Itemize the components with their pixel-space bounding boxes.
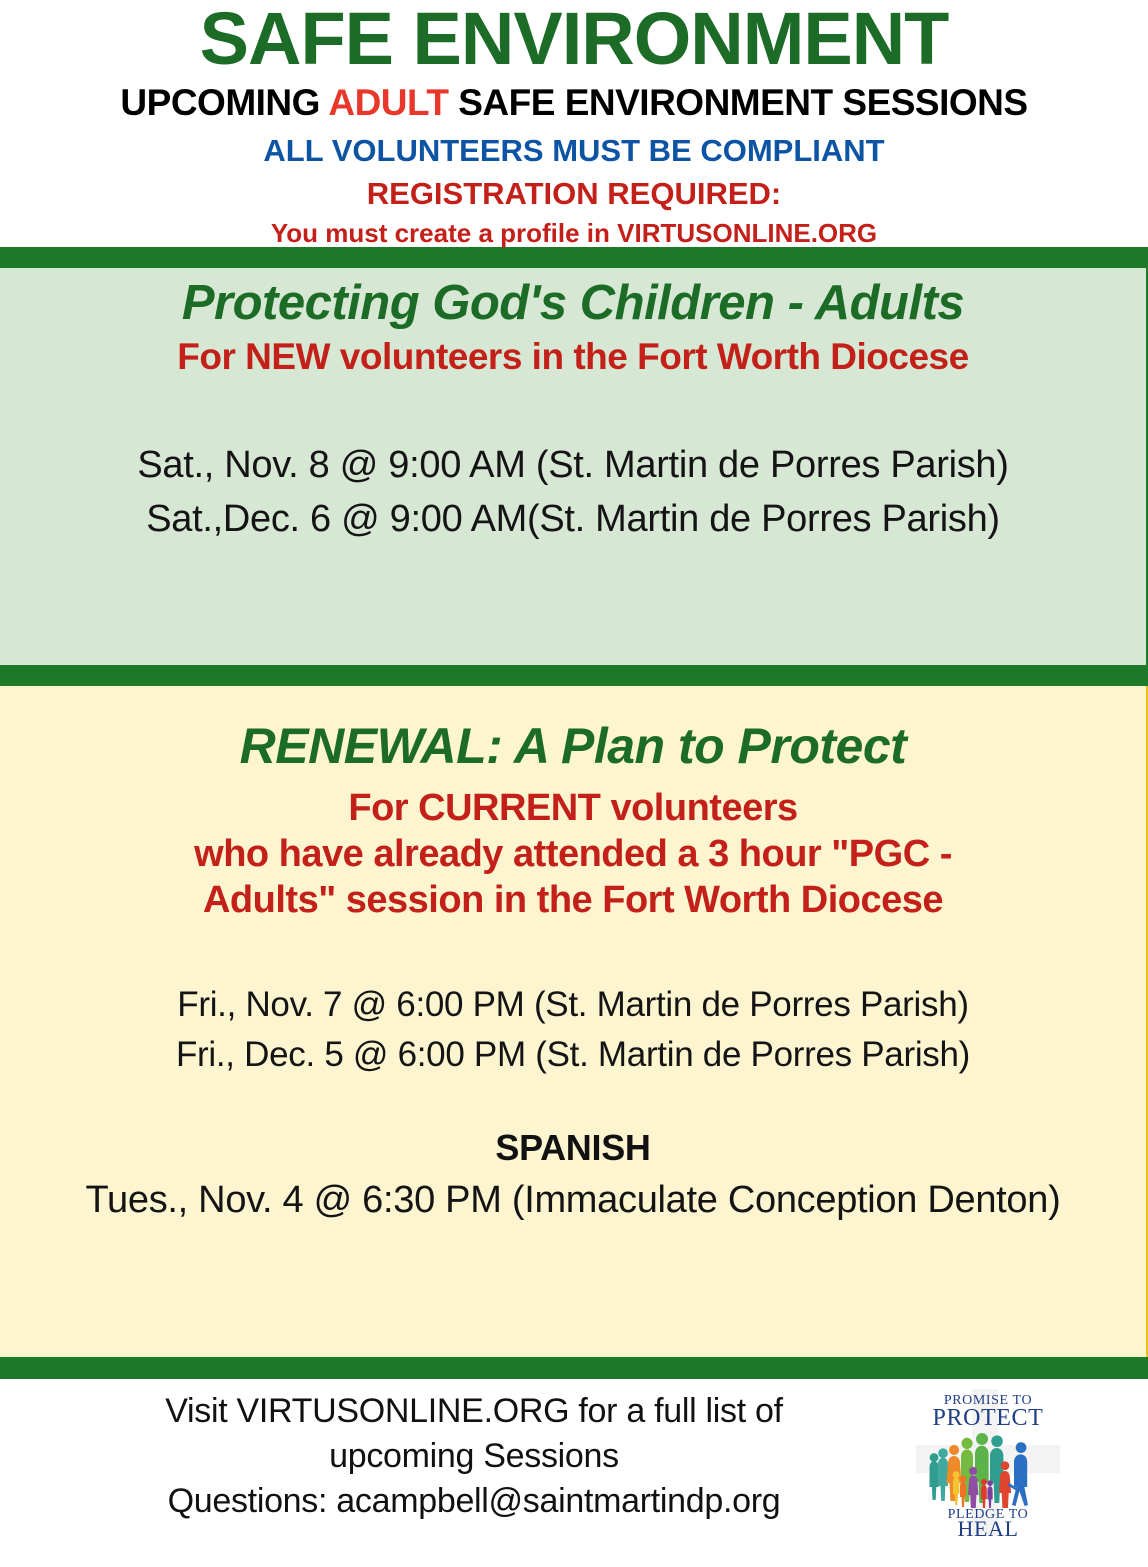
renewal-audience-line-2: who have already attended a 3 hour "PGC … xyxy=(14,831,1132,877)
section-protecting-gods-children: Protecting God's Children - Adults For N… xyxy=(0,268,1148,665)
renewal-audience-line-3: Adults" session in the Fort Worth Dioces… xyxy=(14,877,1132,923)
flyer-footer: Visit VIRTUSONLINE.ORG for a full list o… xyxy=(0,1379,1148,1536)
flyer-page: SAFE ENVIRONMENT UPCOMING ADULT SAFE ENV… xyxy=(0,0,1148,1567)
divider-rule-bottom xyxy=(0,1357,1148,1379)
pgc-session-list: Sat., Nov. 8 @ 9:00 AM (St. Martin de Po… xyxy=(14,439,1132,547)
header-subtitle: UPCOMING ADULT SAFE ENVIRONMENT SESSIONS xyxy=(10,84,1138,123)
page-title: SAFE ENVIRONMENT xyxy=(10,0,1138,76)
pgc-section-title: Protecting God's Children - Adults xyxy=(14,278,1132,329)
header-subtitle-after: SAFE ENVIRONMENT SESSIONS xyxy=(448,82,1027,123)
footer-line-2: upcoming Sessions xyxy=(10,1434,938,1479)
renewal-session-item: Fri., Nov. 7 @ 6:00 PM (St. Martin de Po… xyxy=(14,980,1132,1030)
flyer-header: SAFE ENVIRONMENT UPCOMING ADULT SAFE ENV… xyxy=(0,0,1148,247)
registration-required-notice: REGISTRATION REQUIRED: xyxy=(10,178,1138,211)
renewal-session-item: Fri., Dec. 5 @ 6:00 PM (St. Martin de Po… xyxy=(14,1030,1132,1080)
renewal-section-title: RENEWAL: A Plan to Protect xyxy=(14,720,1132,773)
svg-text:PROTECT: PROTECT xyxy=(933,1405,1044,1431)
renewal-session-list: Fri., Nov. 7 @ 6:00 PM (St. Martin de Po… xyxy=(14,980,1132,1079)
section-renewal: RENEWAL: A Plan to Protect For CURRENT v… xyxy=(0,686,1148,1357)
header-subtitle-highlight: ADULT xyxy=(328,82,448,123)
divider-rule-top xyxy=(0,247,1148,268)
spanish-session-item: Tues., Nov. 4 @ 6:30 PM (Immaculate Conc… xyxy=(14,1179,1132,1222)
divider-rule-middle xyxy=(0,665,1148,686)
footer-line-1: Visit VIRTUSONLINE.ORG for a full list o… xyxy=(10,1389,938,1434)
footer-line-3: Questions: acampbell@saintmartindp.org xyxy=(10,1479,938,1524)
renewal-audience-line-1: For CURRENT volunteers xyxy=(14,785,1132,831)
create-profile-notice: You must create a profile in VIRTUSONLIN… xyxy=(10,220,1138,247)
pgc-audience-note: For NEW volunteers in the Fort Worth Dio… xyxy=(14,336,1132,377)
svg-text:HEAL: HEAL xyxy=(957,1516,1018,1537)
promise-to-protect-logo: PROMISE TO PROTECT xyxy=(912,1387,1064,1537)
renewal-audience-note: For CURRENT volunteers who have already … xyxy=(14,785,1132,924)
header-subtitle-before: UPCOMING xyxy=(120,82,328,123)
pgc-session-item: Sat.,Dec. 6 @ 9:00 AM(St. Martin de Porr… xyxy=(14,493,1132,547)
compliance-notice: ALL VOLUNTEERS MUST BE COMPLIANT xyxy=(10,135,1138,168)
spanish-session-heading: SPANISH xyxy=(14,1127,1132,1169)
pgc-session-item: Sat., Nov. 8 @ 9:00 AM (St. Martin de Po… xyxy=(14,439,1132,493)
